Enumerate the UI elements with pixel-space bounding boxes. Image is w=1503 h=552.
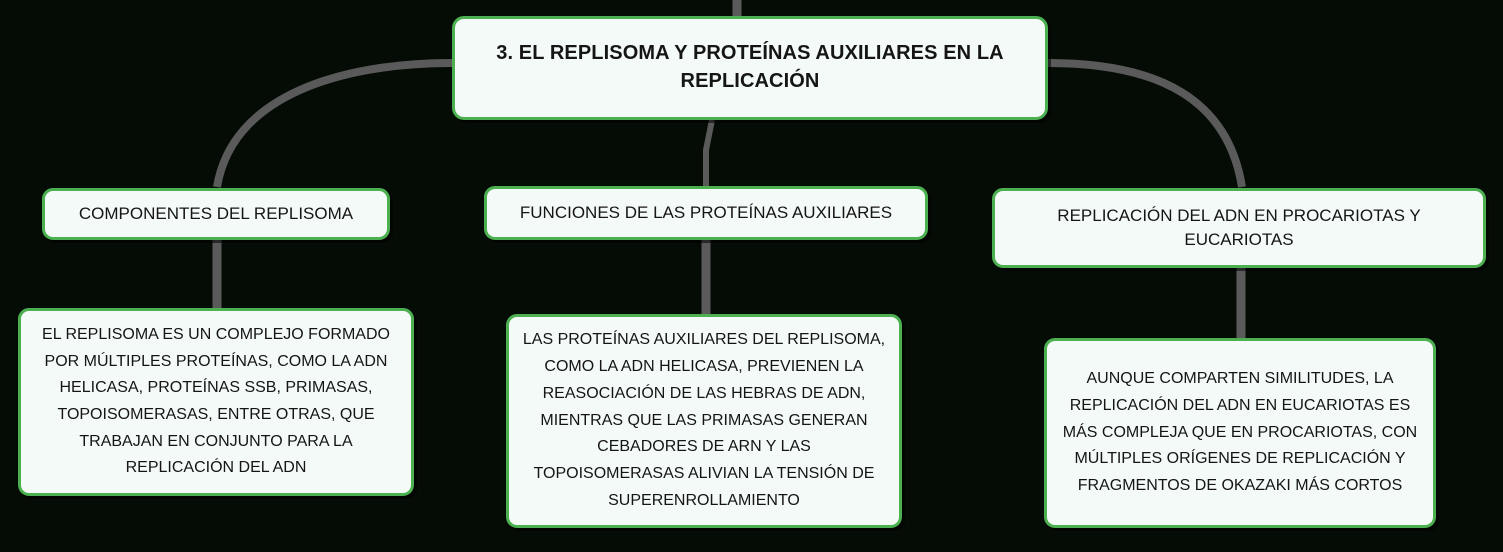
mindmap-branch-node-componentes-del-replisoma[interactable]: COMPONENTES DEL REPLISOMA bbox=[42, 188, 390, 240]
mindmap-leaf-node-funciones-de-las-proteinas-auxiliares[interactable]: LAS PROTEÍNAS AUXILIARES DEL REPLISOMA, … bbox=[506, 314, 902, 528]
mindmap-leaf-node-text: AUNQUE COMPARTEN SIMILITUDES, LA REPLICA… bbox=[1059, 366, 1421, 500]
mindmap-leaf-node-text: LAS PROTEÍNAS AUXILIARES DEL REPLISOMA, … bbox=[521, 327, 887, 514]
mindmap-branch-node-label: REPLICACIÓN DEL ADN EN PROCARIOTAS Y EUC… bbox=[1007, 204, 1471, 252]
connector-root-to-branch-3 bbox=[1048, 63, 1242, 187]
mindmap-branch-node-label: COMPONENTES DEL REPLISOMA bbox=[57, 202, 375, 226]
mind-map-canvas: 3. EL REPLISOMA Y PROTEÍNAS AUXILIARES E… bbox=[0, 0, 1503, 552]
mindmap-leaf-node-replicacion-del-adn-en-procariotas-y-eucariotas[interactable]: AUNQUE COMPARTEN SIMILITUDES, LA REPLICA… bbox=[1044, 338, 1436, 528]
mindmap-leaf-node-text: EL REPLISOMA ES UN COMPLEJO FORMADO POR … bbox=[33, 322, 399, 482]
mindmap-branch-node-funciones-de-las-proteinas-auxiliares[interactable]: FUNCIONES DE LAS PROTEÍNAS AUXILIARES bbox=[484, 186, 928, 240]
mindmap-branch-node-label: FUNCIONES DE LAS PROTEÍNAS AUXILIARES bbox=[499, 201, 913, 225]
connector-root-to-branch-2 bbox=[706, 120, 712, 187]
mindmap-root-node[interactable]: 3. EL REPLISOMA Y PROTEÍNAS AUXILIARES E… bbox=[452, 16, 1048, 120]
mindmap-root-node-label: 3. EL REPLISOMA Y PROTEÍNAS AUXILIARES E… bbox=[467, 40, 1033, 95]
mindmap-leaf-node-componentes-del-replisoma[interactable]: EL REPLISOMA ES UN COMPLEJO FORMADO POR … bbox=[18, 308, 414, 496]
connector-root-to-branch-1 bbox=[217, 63, 452, 187]
mindmap-branch-node-replicacion-del-adn-en-procariotas-y-eucariotas[interactable]: REPLICACIÓN DEL ADN EN PROCARIOTAS Y EUC… bbox=[992, 188, 1486, 268]
